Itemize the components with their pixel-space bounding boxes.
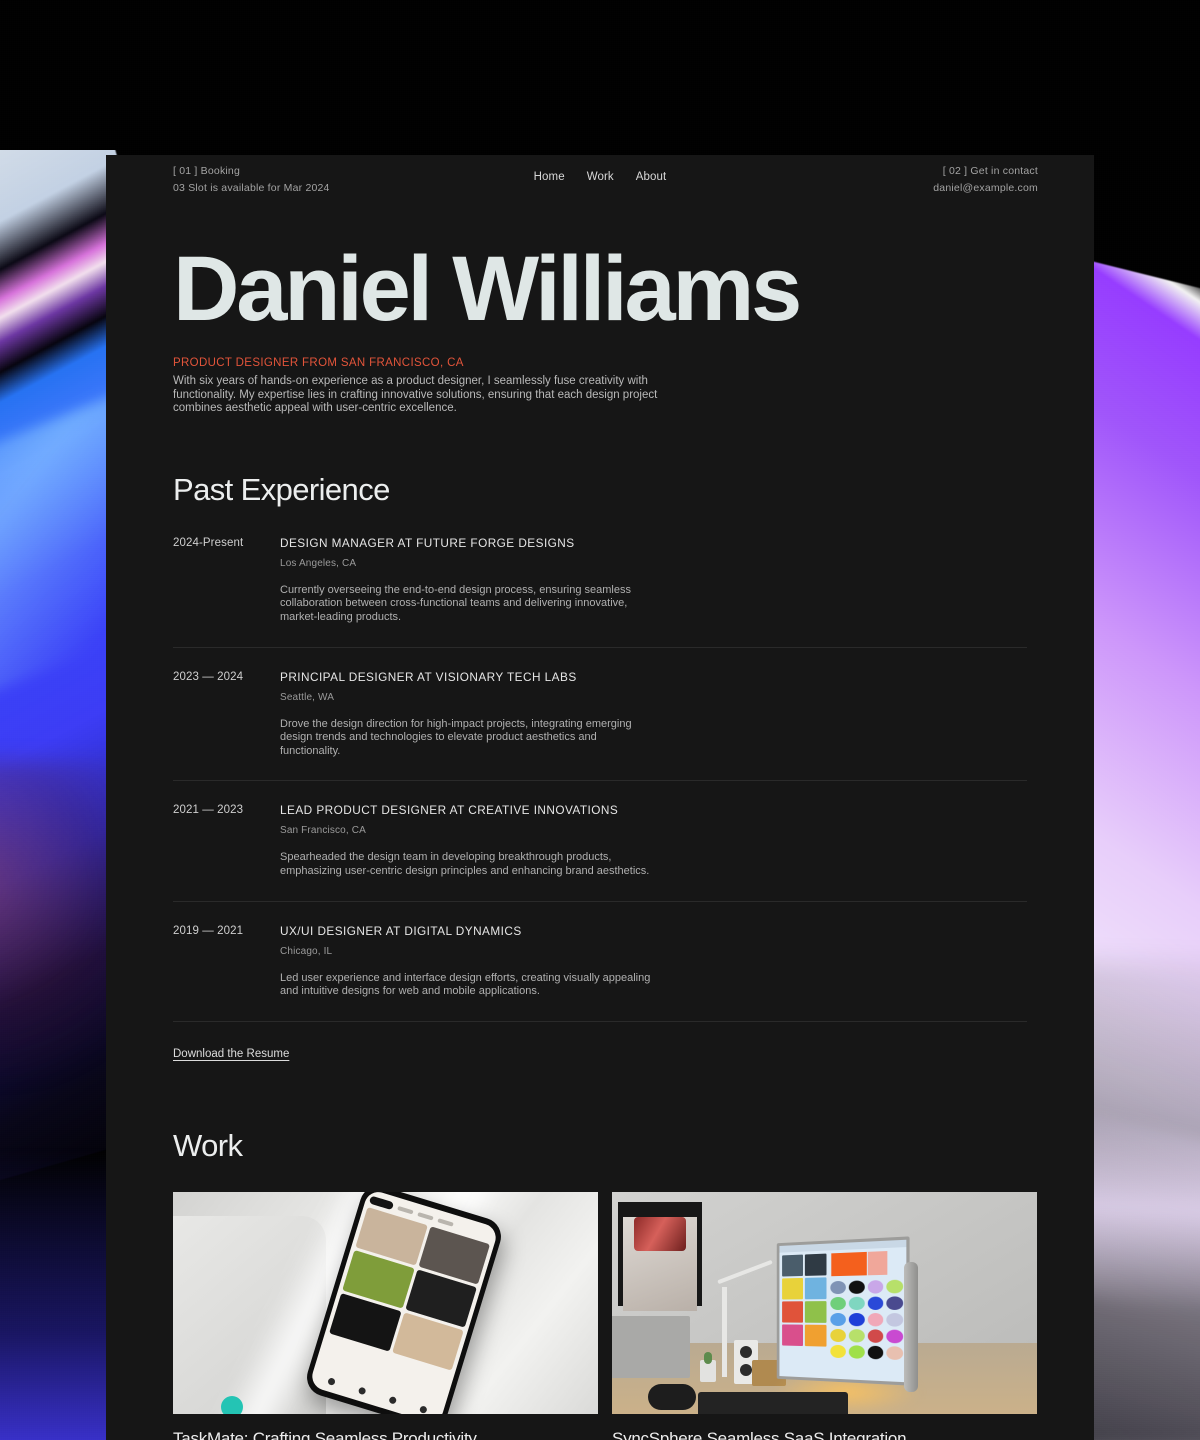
experience-description: Spearheaded the design team in developin… <box>280 851 660 878</box>
nav-item-work[interactable]: Work <box>587 171 614 183</box>
experience-date: 2021 — 2023 <box>173 803 280 878</box>
hero-role-label: PRODUCT DESIGNER FROM SAN FRANCISCO, CA <box>173 357 1027 369</box>
experience-role: DESIGN MANAGER AT FUTURE FORGE DESIGNS <box>280 536 1027 550</box>
work-grid: TaskMate: Crafting Seamless Productivity… <box>173 1192 1027 1440</box>
experience-description: Currently overseeing the end-to-end desi… <box>280 584 660 625</box>
site-header: [ 01 ] Booking 03 Slot is available for … <box>106 155 1094 211</box>
work-heading: Work <box>173 1128 1027 1164</box>
experience-role: PRINCIPAL DESIGNER AT VISIONARY TECH LAB… <box>280 670 1027 684</box>
experience-date: 2024-Present <box>173 536 280 625</box>
experience-section: Past Experience 2024-Present DESIGN MANA… <box>106 472 1094 1062</box>
experience-location: San Francisco, CA <box>280 825 1027 836</box>
experience-item: 2024-Present DESIGN MANAGER AT FUTURE FO… <box>173 536 1027 648</box>
work-section: Work <box>106 1128 1094 1440</box>
experience-location: Los Angeles, CA <box>280 558 1027 569</box>
work-thumbnail-taskmate[interactable] <box>173 1192 598 1414</box>
work-card[interactable]: SyncSphere Seamless SaaS Integration Col… <box>612 1192 1037 1440</box>
work-card-title: TaskMate: Crafting Seamless Productivity <box>173 1429 598 1440</box>
hero-bio-text: With six years of hands-on experience as… <box>173 375 665 416</box>
contact-info: [ 02 ] Get in contact daniel@example.com <box>933 163 1038 196</box>
work-card[interactable]: TaskMate: Crafting Seamless Productivity… <box>173 1192 598 1440</box>
experience-item: 2023 — 2024 PRINCIPAL DESIGNER AT VISION… <box>173 670 1027 782</box>
page-title: Daniel Williams <box>173 243 1027 335</box>
work-thumbnail-syncsphere[interactable] <box>612 1192 1037 1414</box>
experience-location: Chicago, IL <box>280 946 1027 957</box>
experience-role: UX/UI DESIGNER AT DIGITAL DYNAMICS <box>280 924 1027 938</box>
experience-item: 2021 — 2023 LEAD PRODUCT DESIGNER AT CRE… <box>173 803 1027 901</box>
experience-list: 2024-Present DESIGN MANAGER AT FUTURE FO… <box>173 536 1027 1022</box>
experience-role: LEAD PRODUCT DESIGNER AT CREATIVE INNOVA… <box>280 803 1027 817</box>
work-card-title: SyncSphere Seamless SaaS Integration <box>612 1429 1037 1440</box>
experience-date: 2023 — 2024 <box>173 670 280 759</box>
experience-date: 2019 — 2021 <box>173 924 280 999</box>
contact-email[interactable]: daniel@example.com <box>933 180 1038 197</box>
nav-item-about[interactable]: About <box>636 171 667 183</box>
hero-section: Daniel Williams PRODUCT DESIGNER FROM SA… <box>106 211 1094 416</box>
experience-description: Led user experience and interface design… <box>280 972 660 999</box>
experience-location: Seattle, WA <box>280 692 1027 703</box>
experience-heading: Past Experience <box>173 472 1027 508</box>
contact-tag: [ 02 ] Get in contact <box>933 163 1038 180</box>
download-resume-link[interactable]: Download the Resume <box>173 1048 289 1060</box>
experience-item: 2019 — 2021 UX/UI DESIGNER AT DIGITAL DY… <box>173 924 1027 1022</box>
experience-description: Drove the design direction for high-impa… <box>280 718 660 759</box>
nav-item-home[interactable]: Home <box>534 171 565 183</box>
site-panel: [ 01 ] Booking 03 Slot is available for … <box>106 155 1094 1440</box>
